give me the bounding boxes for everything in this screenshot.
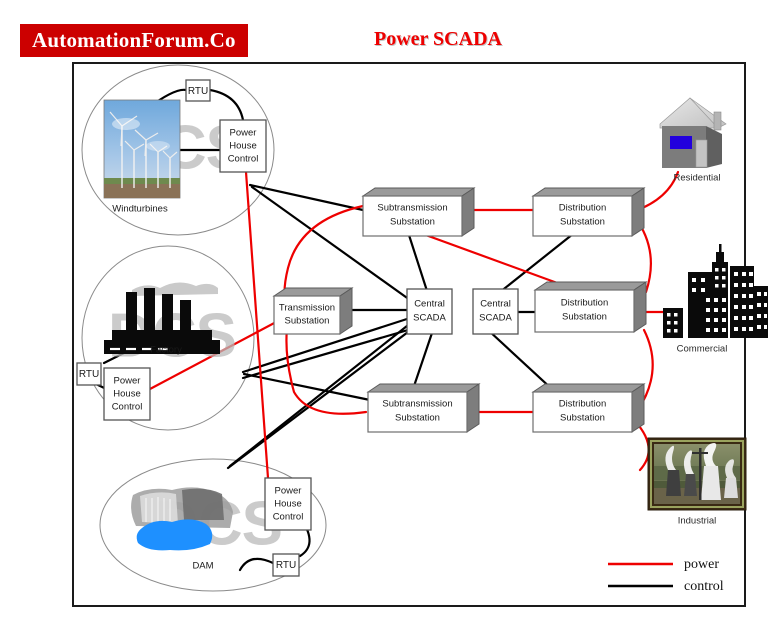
scada-left-line1: Central: [414, 299, 445, 310]
control-link-scada-fan-a: [243, 330, 408, 378]
phc-wind-line3: Control: [228, 154, 259, 165]
legend: power control: [608, 557, 724, 594]
dist-mid-line1: Distribution: [561, 298, 609, 309]
node-distribution-substation-top[interactable]: Distribution Substation: [533, 188, 644, 236]
legend-label-control: control: [684, 579, 724, 594]
group-label-windturbines: Windturbines: [112, 204, 168, 215]
legend-label-power: power: [684, 557, 719, 572]
transmission-line1: Transmission: [279, 303, 335, 314]
node-distribution-substation-bottom[interactable]: Distribution Substation: [533, 384, 644, 432]
consumer-label-residential: Residential: [674, 173, 721, 184]
rtu-windturbines-label: RTU: [188, 86, 208, 97]
group-label-dam: DAM: [192, 561, 213, 572]
node-central-scada-left[interactable]: Central SCADA: [407, 289, 452, 334]
commercial-image: [663, 244, 768, 338]
node-subtransmission-substation-top[interactable]: Subtransmission Substation: [363, 188, 474, 236]
screenshot-root: AutomationForum.Co Power SCADA: [0, 0, 768, 622]
rtu-dam-label: RTU: [276, 560, 296, 571]
dist-top-line2: Substation: [560, 217, 605, 228]
phc-dam-line3: Control: [273, 512, 304, 523]
industrial-image: [648, 438, 746, 510]
node-central-scada-right[interactable]: Central SCADA: [473, 289, 518, 334]
dist-top-line1: Distribution: [559, 203, 607, 214]
dist-mid-line2: Substation: [562, 312, 607, 323]
phc-factory-line2: House: [113, 389, 140, 400]
rtu-windturbines[interactable]: RTU: [186, 80, 210, 101]
scada-left-line2: SCADA: [413, 313, 446, 324]
power-house-control-windturbines[interactable]: Power House Control: [220, 120, 266, 172]
subtrans-top-line2: Substation: [390, 217, 435, 228]
phc-factory-line1: Power: [114, 376, 141, 387]
rtu-dam[interactable]: RTU: [273, 554, 299, 576]
control-link-scada-subtrans-top: [408, 232, 428, 294]
node-transmission-substation[interactable]: Transmission Substation: [274, 288, 352, 334]
transmission-line2: Substation: [285, 316, 330, 327]
rtu-factory[interactable]: RTU: [77, 363, 101, 385]
control-link-scada-subtrans-bottom: [412, 333, 432, 392]
rtu-factory-label: RTU: [79, 369, 99, 380]
residential-image: [660, 98, 726, 168]
dist-bottom-line2: Substation: [560, 413, 605, 424]
phc-dam-line1: Power: [275, 486, 302, 497]
windturbines-image: [104, 100, 180, 198]
scada-right-line2: SCADA: [479, 313, 512, 324]
phc-wind-line2: House: [229, 141, 256, 152]
group-label-factory: Factory: [150, 345, 182, 356]
phc-wind-line1: Power: [230, 128, 257, 139]
power-house-control-factory[interactable]: Power House Control: [104, 368, 150, 420]
phc-factory-line3: Control: [112, 402, 143, 413]
consumer-label-commercial: Commercial: [677, 344, 728, 355]
scada-right-line1: Central: [480, 299, 511, 310]
control-link-dam-rtu-image: [240, 559, 273, 570]
node-distribution-substation-mid[interactable]: Distribution Substation: [535, 282, 646, 332]
phc-dam-line2: House: [274, 499, 301, 510]
subtrans-bottom-line1: Subtransmission: [382, 399, 452, 410]
node-subtransmission-substation-bottom[interactable]: Subtransmission Substation: [368, 384, 479, 432]
dist-bottom-line1: Distribution: [559, 399, 607, 410]
consumer-label-industrial: Industrial: [678, 516, 717, 527]
subtrans-bottom-line2: Substation: [395, 413, 440, 424]
power-scada-diagram: DCS DCS DCS Windtur: [0, 0, 768, 622]
subtrans-top-line1: Subtransmission: [377, 203, 447, 214]
power-link-wind-to-dam-bus: [246, 172, 268, 478]
power-house-control-dam[interactable]: Power House Control: [265, 478, 311, 530]
